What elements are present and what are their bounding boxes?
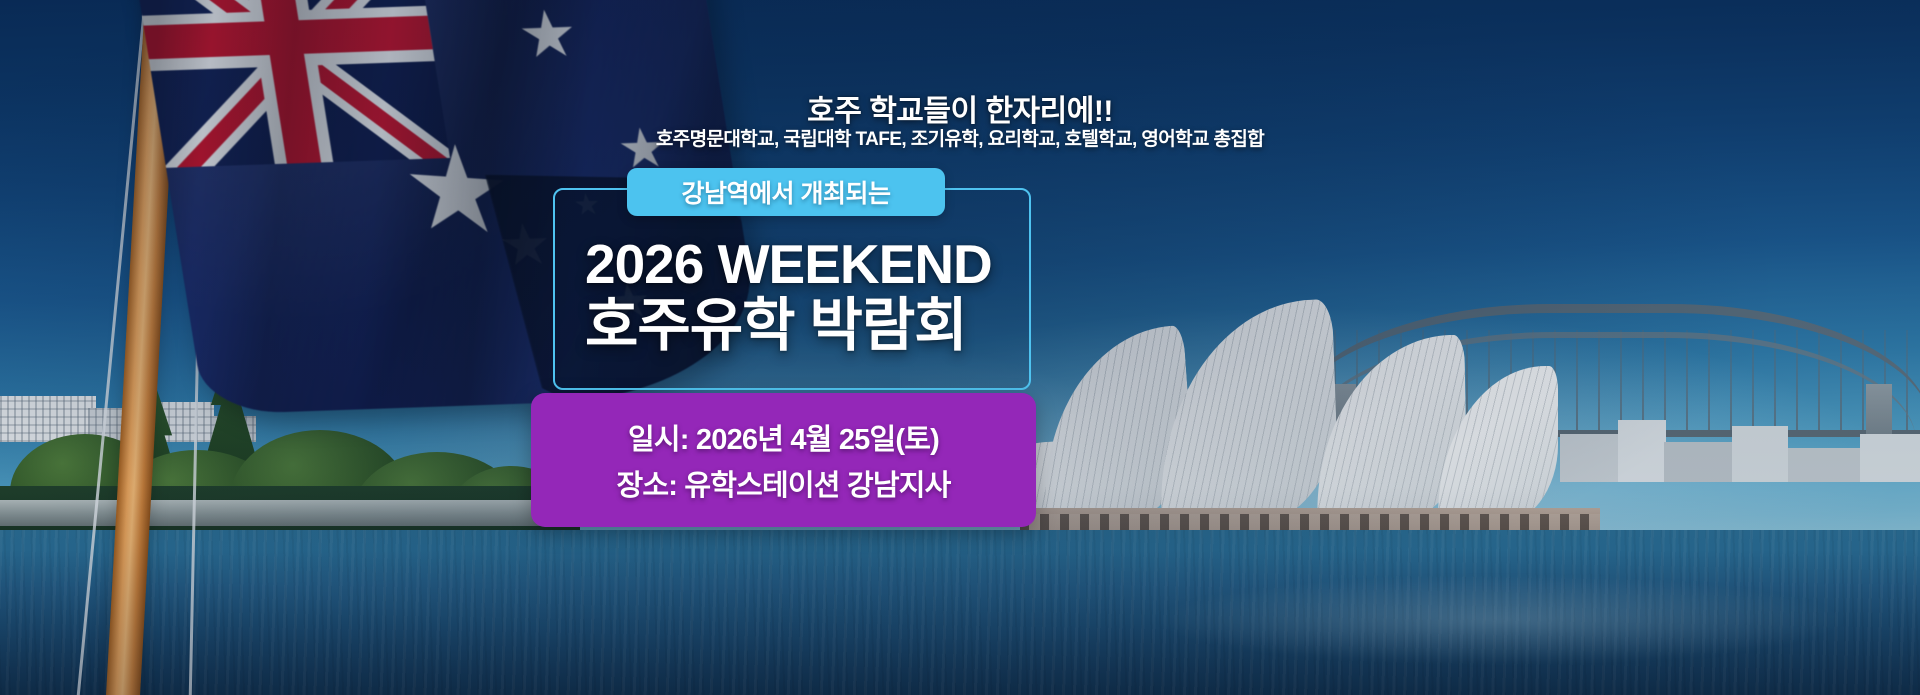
event-title: 2026 WEEKEND 호주유학 박람회: [585, 236, 1105, 355]
location-pill-label: 강남역에서 개최되는: [682, 174, 891, 210]
event-date: 일시: 2026년 4월 25일(토): [628, 416, 939, 458]
event-info-card: 일시: 2026년 4월 25일(토) 장소: 유학스테이션 강남지사: [531, 393, 1036, 527]
promo-banner: 호주 학교들이 한자리에!! 호주명문대학교, 국립대학 TAFE, 조기유학,…: [0, 0, 1920, 695]
text-overlay: 호주 학교들이 한자리에!! 호주명문대학교, 국립대학 TAFE, 조기유학,…: [0, 0, 1920, 695]
event-venue: 장소: 유학스테이션 강남지사: [617, 462, 951, 504]
kicker-subheadline: 호주명문대학교, 국립대학 TAFE, 조기유학, 요리학교, 호텔학교, 영어…: [0, 124, 1920, 151]
event-title-korean: 호주유학 박람회: [585, 296, 1105, 355]
event-title-english: 2026 WEEKEND: [585, 236, 1105, 292]
location-pill: 강남역에서 개최되는: [627, 168, 945, 216]
